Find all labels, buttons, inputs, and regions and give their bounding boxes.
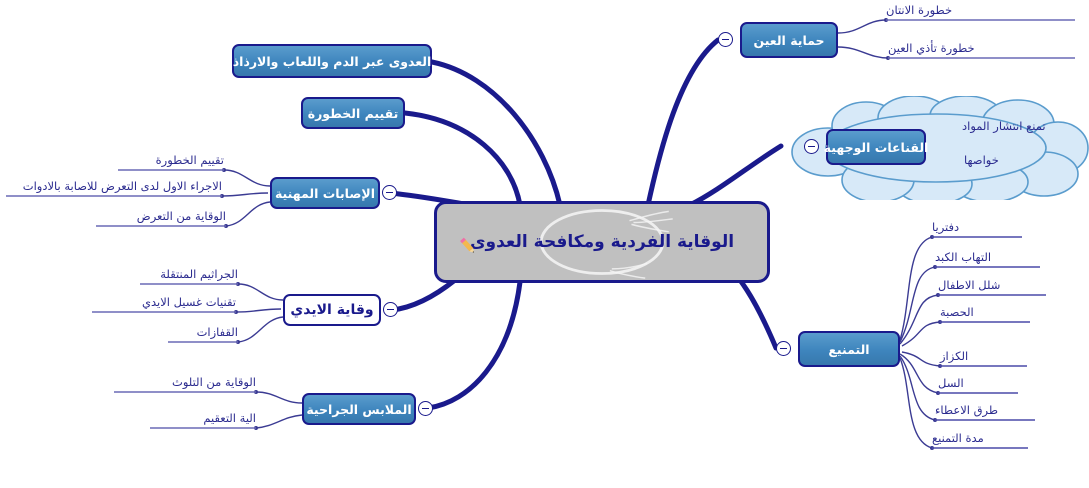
leaf-label[interactable]: الاجراء الاول لدى التعرض للاصابة بالادوا…	[6, 180, 222, 193]
branch-label-surgical-clothing: الملابس الجراحية	[306, 402, 411, 417]
mind-map-canvas: الوقاية الفردية ومكافحة العدوى حماية الع…	[0, 0, 1089, 488]
collapse-toggle-surgical-clothing[interactable]	[418, 401, 433, 416]
leaf-label[interactable]: القفازات	[168, 326, 238, 339]
branch-node-immunization[interactable]: التمنيع	[798, 331, 900, 367]
leaf-label[interactable]: شلل الاطفال	[938, 279, 1046, 292]
leaf-label[interactable]: تقنيات غسيل الايدي	[92, 296, 236, 309]
branch-label-hand-protection: وقاية الايدي	[290, 302, 373, 318]
leaf-label[interactable]: مدة التمنيع	[932, 432, 1028, 445]
collapse-toggle-hand-protection[interactable]	[383, 302, 398, 317]
branch-node-occupational-injuries[interactable]: الإصابات المهنية	[270, 177, 380, 209]
leaf-label[interactable]: الجراثيم المنتقلة	[140, 268, 238, 281]
branch-label-immunization: التمنيع	[828, 342, 869, 357]
branch-node-eye-protection[interactable]: حماية العين	[740, 22, 838, 58]
collapse-toggle-eye-protection[interactable]	[718, 32, 733, 47]
leaf-label[interactable]: الكزاز	[940, 350, 1027, 363]
leaf-label[interactable]: طرق الاعطاء	[935, 404, 1035, 417]
leaf-label[interactable]: التهاب الكبد	[935, 251, 1040, 264]
leaf-label[interactable]: دفتريا	[932, 221, 1022, 234]
branch-node-hand-protection[interactable]: وقاية الايدي	[283, 294, 381, 326]
leaf-label[interactable]: السل	[938, 377, 1018, 390]
branch-node-surgical-clothing[interactable]: الملابس الجراحية	[302, 393, 416, 425]
branch-label-occupational-injuries: الإصابات المهنية	[275, 186, 375, 201]
leaf-label[interactable]: خطورة تأذي العين	[888, 42, 1075, 55]
leaf-label[interactable]: الحصبة	[940, 306, 1030, 319]
branch-label-eye-protection: حماية العين	[753, 33, 824, 48]
collapse-toggle-immunization[interactable]	[776, 341, 791, 356]
leaf-label[interactable]: تمنع انتشار المواد	[962, 120, 1062, 133]
collapse-toggle-occupational-injuries[interactable]	[382, 185, 397, 200]
pencil-icon	[457, 235, 479, 261]
branch-node-face-masks[interactable]: القناعات الوجهية	[826, 129, 926, 165]
leaf-label[interactable]: الية التعقيم	[150, 412, 256, 425]
branch-label-face-masks: القناعات الوجهية	[824, 140, 929, 155]
central-topic-node[interactable]: الوقاية الفردية ومكافحة العدوى	[434, 201, 770, 283]
leaf-label[interactable]: خواصها	[964, 154, 1048, 167]
leaf-label[interactable]: الوقاية من التلوث	[114, 376, 256, 389]
leaf-label[interactable]: خطورة الانتان	[886, 4, 1075, 17]
branch-node-risk-assessment[interactable]: تقييم الخطورة	[301, 97, 405, 129]
branch-label-risk-assessment: تقييم الخطورة	[308, 106, 399, 121]
leaf-label[interactable]: الوقاية من التعرض	[96, 210, 226, 223]
central-topic-label: الوقاية الفردية ومكافحة العدوى	[470, 232, 734, 252]
leaf-label[interactable]: تقييم الخطورة	[118, 154, 224, 167]
branch-node-blood-saliva-droplet-infection[interactable]: العدوى عبر الدم واللعاب والارذاذ	[232, 44, 432, 78]
branch-label-blood-saliva-droplet-infection: العدوى عبر الدم واللعاب والارذاذ	[233, 54, 432, 69]
collapse-toggle-face-masks[interactable]	[804, 139, 819, 154]
